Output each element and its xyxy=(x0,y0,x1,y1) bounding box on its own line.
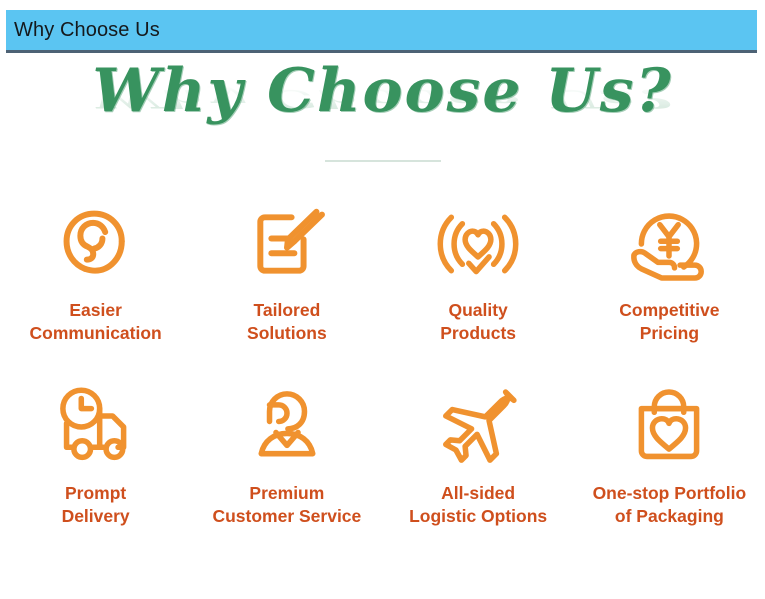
feature-label: One-stop Portfolio of Packaging xyxy=(593,482,747,528)
feature-label: Prompt Delivery xyxy=(62,482,130,528)
heart-check-signal-icon xyxy=(430,196,526,292)
hero-title: Why Choose Us? xyxy=(0,54,765,128)
feature-item-quality-products[interactable]: Quality Products xyxy=(383,196,574,345)
ear-listening-icon xyxy=(48,196,144,292)
hero-divider xyxy=(325,160,441,162)
feature-item-easier-communication[interactable]: Easier Communication xyxy=(0,196,191,345)
feature-label: Quality Products xyxy=(440,299,516,345)
feature-label: All-sided Logistic Options xyxy=(409,482,547,528)
hand-yen-coin-icon xyxy=(621,196,717,292)
shopping-bag-heart-icon xyxy=(621,379,717,475)
feature-label: Premium Customer Service xyxy=(212,482,361,528)
feature-item-tailored-solutions[interactable]: Tailored Solutions xyxy=(191,196,382,345)
headset-agent-icon xyxy=(239,379,335,475)
airplane-icon xyxy=(430,379,526,475)
hero-banner: Why Choose Us? Why Choose Us? xyxy=(0,56,765,164)
feature-item-premium-customer-service[interactable]: Premium Customer Service xyxy=(191,379,382,528)
feature-label: Competitive Pricing xyxy=(619,299,719,345)
window-title: Why Choose Us xyxy=(6,19,160,42)
feature-item-prompt-delivery[interactable]: Prompt Delivery xyxy=(0,379,191,528)
delivery-truck-clock-icon xyxy=(48,379,144,475)
page-content: Why Choose Us? Why Choose Us? Easier Com… xyxy=(0,56,765,599)
window-header-bar: Why Choose Us xyxy=(6,10,757,53)
feature-label: Tailored Solutions xyxy=(247,299,327,345)
feature-item-all-sided-logistic-options[interactable]: All-sided Logistic Options xyxy=(383,379,574,528)
feature-item-one-stop-portfolio-of-packaging[interactable]: One-stop Portfolio of Packaging xyxy=(574,379,765,528)
document-pencil-icon xyxy=(239,196,335,292)
feature-grid: Easier Communication Tailored Solutions xyxy=(0,196,765,528)
feature-item-competitive-pricing[interactable]: Competitive Pricing xyxy=(574,196,765,345)
feature-label: Easier Communication xyxy=(30,299,162,345)
